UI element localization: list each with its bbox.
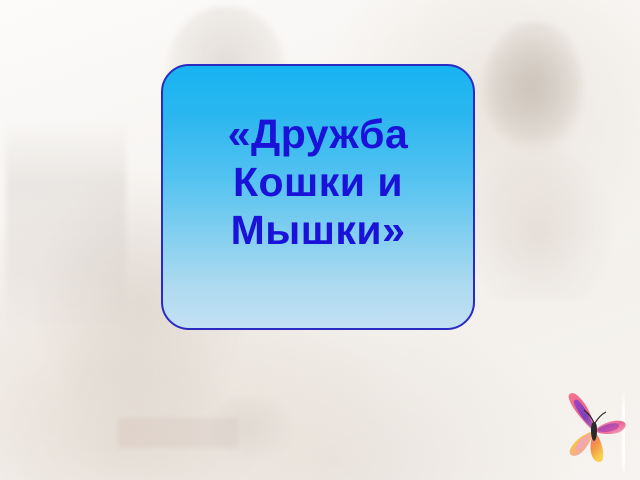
background-hand — [214, 396, 294, 462]
slide-canvas: «Дружба Кошки и Мышки» — [0, 0, 640, 480]
butterfly-icon — [556, 390, 632, 466]
title-text: «Дружба Кошки и Мышки» — [163, 110, 473, 254]
title-card[interactable]: «Дружба Кошки и Мышки» — [161, 64, 475, 330]
background-head-right — [485, 22, 583, 150]
